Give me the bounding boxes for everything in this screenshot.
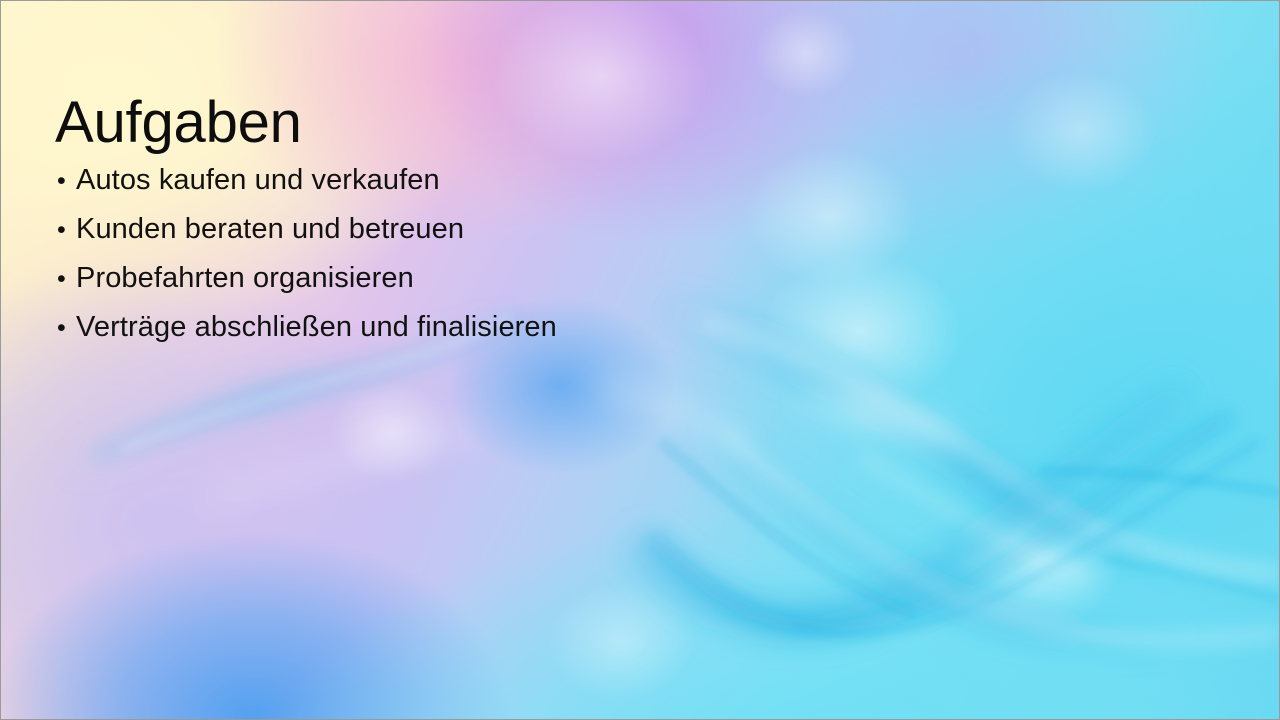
list-item-label: Verträge abschließen und finalisieren [76, 303, 557, 351]
list-item-label: Probefahrten organisieren [76, 254, 414, 302]
list-item: • Autos kaufen und verkaufen [57, 156, 557, 205]
list-item-label: Autos kaufen und verkaufen [76, 156, 440, 204]
presentation-slide: Aufgaben • Autos kaufen und verkaufen • … [0, 0, 1280, 720]
bullet-list: • Autos kaufen und verkaufen • Kunden be… [57, 156, 557, 352]
list-item: • Probefahrten organisieren [57, 254, 557, 303]
bullet-marker-icon: • [57, 304, 76, 352]
list-item-label: Kunden beraten und betreuen [76, 205, 464, 253]
list-item: • Kunden beraten und betreuen [57, 205, 557, 254]
bullet-marker-icon: • [57, 157, 76, 205]
list-item: • Verträge abschließen und finalisieren [57, 303, 557, 352]
slide-content: Aufgaben • Autos kaufen und verkaufen • … [1, 1, 1280, 720]
slide-title: Aufgaben [55, 94, 302, 152]
bullet-marker-icon: • [57, 206, 76, 254]
bullet-marker-icon: • [57, 255, 76, 303]
